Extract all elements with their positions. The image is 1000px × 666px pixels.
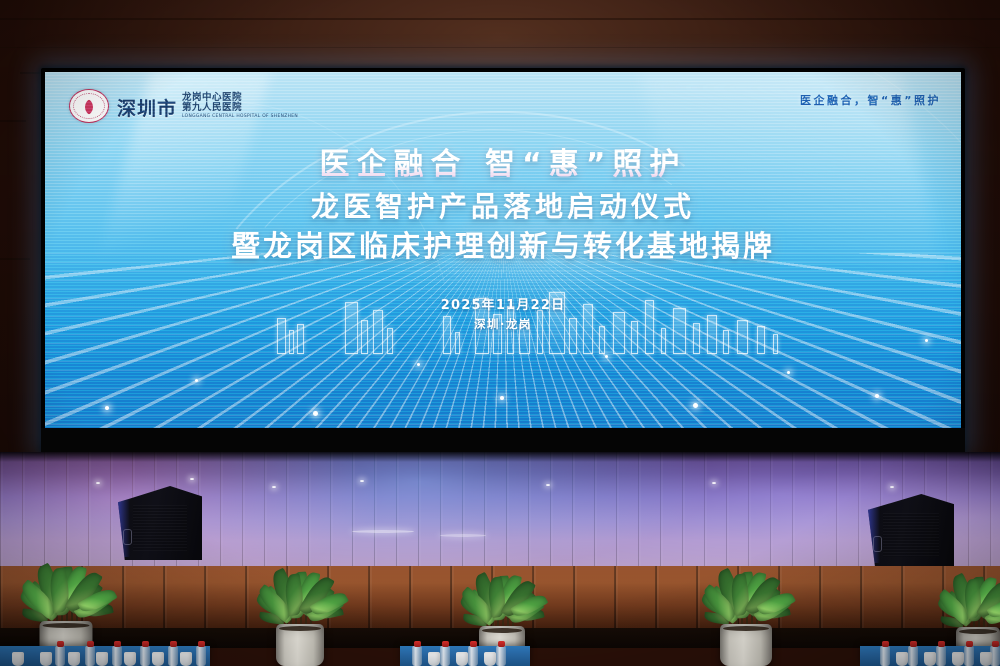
corner-slogan: 医企融合，智“惠”照护 (800, 92, 941, 108)
speaker-cabinet (868, 494, 954, 566)
water-bottle (468, 646, 478, 666)
water-bottle (880, 646, 890, 666)
stage-monitor-speaker-left (118, 486, 202, 560)
front-table-row (0, 646, 1000, 666)
headline-line-3: 暨龙岗区临床护理创新与转化基地揭牌 (45, 228, 961, 266)
led-screen-frame: 深圳市 龙岗中心医院 第九人民医院 LONGGANG CENTRAL HOSPI… (41, 68, 965, 452)
water-bottle (936, 646, 946, 666)
paper-cup (924, 652, 936, 666)
logo-city-text: 深圳市 (117, 100, 177, 119)
paper-cup (12, 652, 24, 666)
paper-cup (980, 652, 992, 666)
bottle-cap (114, 641, 121, 647)
bottle-cap (198, 641, 205, 647)
event-place: 深圳·龙岗 (45, 316, 961, 332)
hospital-logo: 深圳市 龙岗中心医院 第九人民医院 LONGGANG CENTRAL HOSPI… (69, 89, 298, 123)
speaker-grille (133, 505, 187, 551)
speaker-cabinet (118, 486, 202, 560)
paper-cup (180, 652, 192, 666)
bottle-cap (142, 641, 149, 647)
water-bottle (168, 646, 178, 666)
water-bottle (412, 646, 422, 666)
led-bottom-bezel (41, 428, 965, 452)
paper-cup (896, 652, 908, 666)
water-bottle (908, 646, 918, 666)
headline-line-1: 医企融合 智“惠”照护 (45, 146, 961, 184)
paper-cup (124, 652, 136, 666)
bottle-cap (57, 641, 64, 647)
bottle-cap (87, 641, 94, 647)
logo-hospital-name-2: 第九人民医院 (182, 103, 298, 113)
water-bottle (440, 646, 450, 666)
bottle-cap (170, 641, 177, 647)
bottle-cap (442, 641, 449, 647)
speaker-handle (873, 536, 882, 552)
headline-block: 医企融合 智“惠”照护 龙医智护产品落地启动仪式 暨龙岗区临床护理创新与转化基地… (45, 146, 961, 266)
bottle-cap (470, 641, 477, 647)
paper-cup (40, 652, 52, 666)
stage-monitor-speaker-right (868, 494, 954, 566)
water-bottle (964, 646, 974, 666)
paper-cup (952, 652, 964, 666)
event-meta: 2025年11月22日 深圳·龙岗 (45, 294, 961, 332)
logo-english-name: LONGGANG CENTRAL HOSPITAL OF SHENZHEN (182, 114, 298, 119)
bottle-cap (966, 641, 973, 647)
paper-cup (456, 652, 468, 666)
paper-cup (484, 652, 496, 666)
headline-line-2: 龙医智护产品落地启动仪式 (45, 189, 961, 225)
speaker-grille (883, 513, 938, 558)
paper-cup (428, 652, 440, 666)
bottle-cap (414, 641, 421, 647)
water-bottle (85, 646, 95, 666)
paper-cup (68, 652, 80, 666)
water-bottle (496, 646, 506, 666)
water-bottle (55, 646, 65, 666)
bottle-cap (910, 641, 917, 647)
paper-cup (152, 652, 164, 666)
water-bottle (196, 646, 206, 666)
bottle-cap (882, 641, 889, 647)
conference-stage-photo: 深圳市 龙岗中心医院 第九人民医院 LONGGANG CENTRAL HOSPI… (0, 0, 1000, 666)
bottle-cap (992, 641, 999, 647)
led-screen-display: 深圳市 龙岗中心医院 第九人民医院 LONGGANG CENTRAL HOSPI… (45, 72, 961, 428)
paper-cup (96, 652, 108, 666)
event-date: 2025年11月22日 (45, 294, 961, 313)
bottle-cap (498, 641, 505, 647)
water-bottle (112, 646, 122, 666)
speaker-handle (123, 529, 132, 545)
water-bottle (140, 646, 150, 666)
bottle-cap (938, 641, 945, 647)
hospital-seal-icon (69, 89, 109, 123)
